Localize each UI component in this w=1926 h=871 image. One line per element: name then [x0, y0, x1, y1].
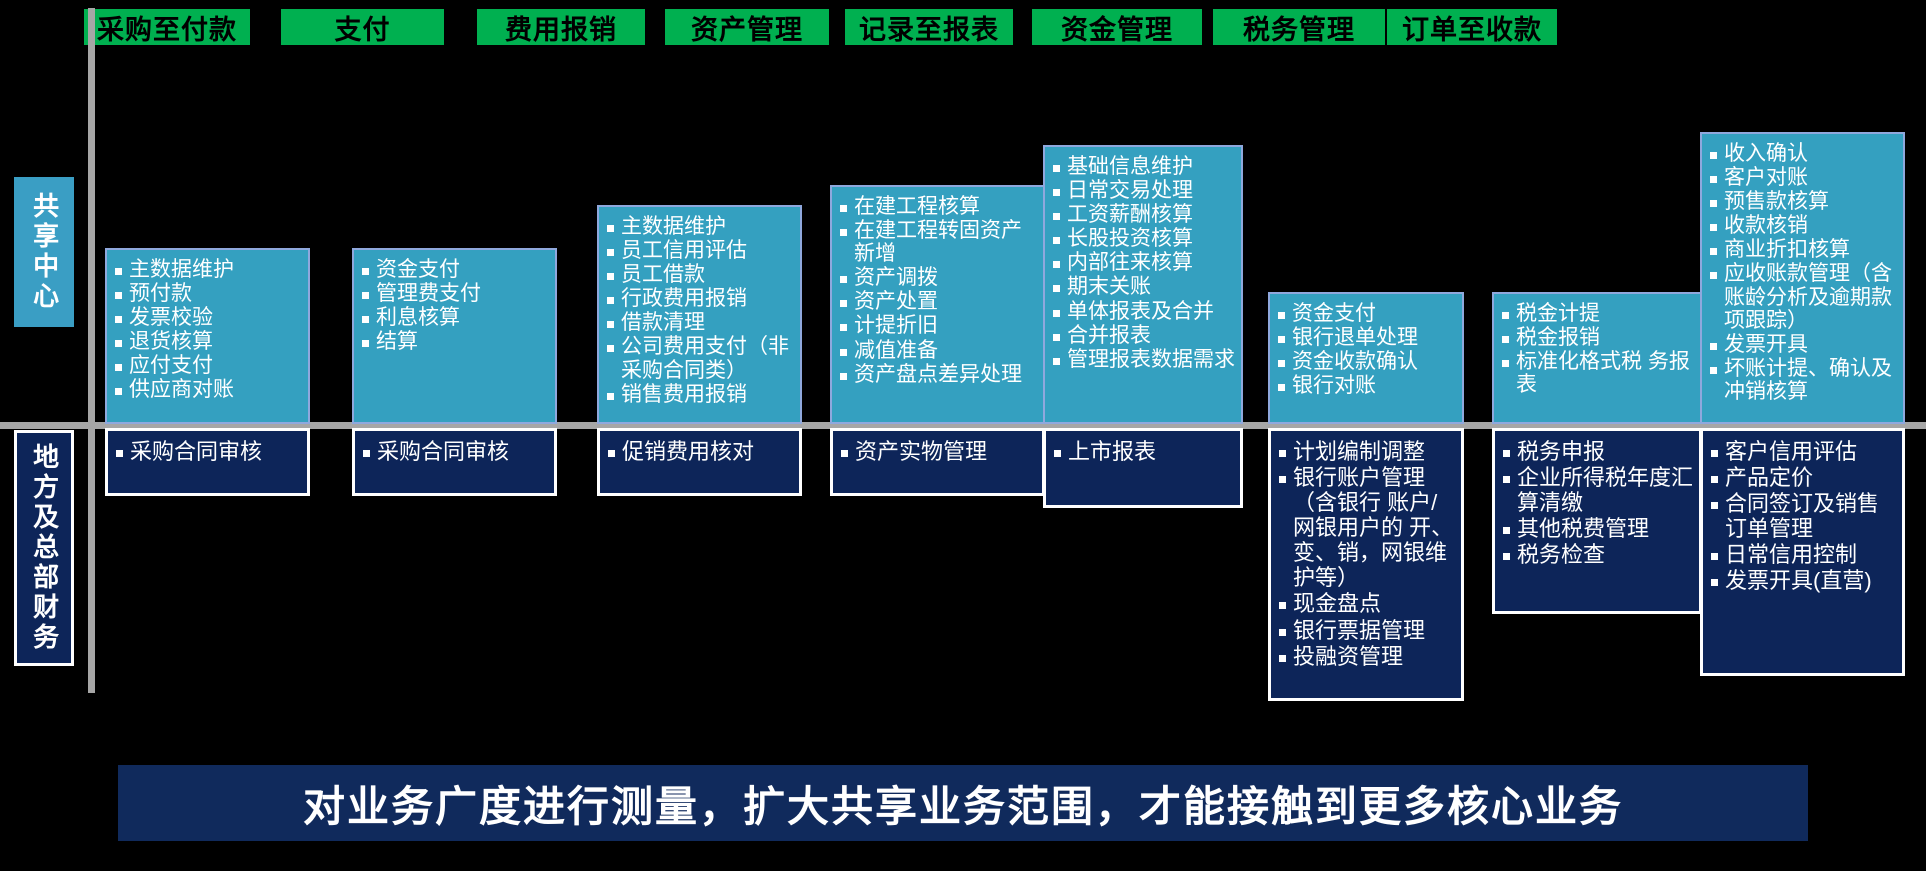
list-item: 在建工程核算 [838, 195, 1037, 218]
list-item: 预售款核算 [1708, 190, 1897, 213]
list-item: 税务检查 [1501, 542, 1693, 567]
list-item: 资金支付 [1276, 302, 1456, 325]
list-item: 管理报表数据需求 [1051, 348, 1235, 371]
header-tab-7[interactable]: 订单至收款 [1387, 9, 1557, 45]
list-item: 日常信用控制 [1709, 542, 1896, 567]
list-item: 发票开具(直营) [1709, 568, 1896, 593]
list-item: 坏账计提、确认及冲销核算 [1708, 357, 1897, 403]
item-list: 计划编制调整 银行账户管理（含银行 账户/网银用户的 开、变、销，网银维护等） … [1277, 439, 1455, 669]
list-item: 客户对账 [1708, 166, 1897, 189]
list-item: 促销费用核对 [606, 439, 793, 464]
list-item: 结算 [360, 330, 549, 353]
summary-banner: 对业务广度进行测量，扩大共享业务范围，才能接触到更多核心业务 [118, 765, 1808, 841]
list-item: 行政费用报销 [605, 287, 794, 310]
item-list: 客户信用评估 产品定价 合同签订及销售订单管理 日常信用控制 发票开具(直营) [1709, 439, 1896, 593]
item-list: 资产实物管理 [839, 439, 1036, 464]
list-item: 合同签订及销售订单管理 [1709, 491, 1896, 541]
list-item: 减值准备 [838, 339, 1037, 362]
header-tab-4[interactable]: 记录至报表 [845, 9, 1013, 45]
local-box-expense-reimbursement[interactable]: 促销费用核对 [597, 428, 802, 496]
list-item: 员工信用评估 [605, 239, 794, 262]
slide-canvas: 采购至付款 支付 费用报销 资产管理 记录至报表 资金管理 税务管理 订单至收款… [0, 0, 1926, 871]
list-item: 收款核销 [1708, 214, 1897, 237]
header-tab-label: 资金管理 [1061, 8, 1173, 47]
list-item: 商业折扣核算 [1708, 238, 1897, 261]
list-item: 资产处置 [838, 290, 1037, 313]
list-item: 在建工程转固资产新增 [838, 219, 1037, 265]
local-box-procure-to-pay[interactable]: 采购合同审核 [105, 428, 310, 496]
list-item: 税金计提 [1500, 302, 1694, 325]
list-item: 利息核算 [360, 306, 549, 329]
list-item: 发票校验 [113, 306, 302, 329]
list-item: 主数据维护 [113, 258, 302, 281]
list-item: 资产盘点差异处理 [838, 363, 1037, 386]
list-item: 管理费支付 [360, 282, 549, 305]
shared-box-treasury-management[interactable]: 资金支付 银行退单处理 资金收款确认 银行对账 [1268, 292, 1464, 424]
list-item: 资产调拨 [838, 266, 1037, 289]
list-item: 单体报表及合并 [1051, 300, 1235, 323]
list-item: 工资薪酬核算 [1051, 203, 1235, 226]
header-tab-1[interactable]: 支付 [281, 9, 444, 45]
list-item: 企业所得税年度汇算清缴 [1501, 465, 1693, 515]
header-tab-6[interactable]: 税务管理 [1213, 9, 1385, 45]
item-list: 资金支付 银行退单处理 资金收款确认 银行对账 [1276, 302, 1456, 397]
list-item: 销售费用报销 [605, 383, 794, 406]
list-item: 长股投资核算 [1051, 227, 1235, 250]
item-list: 采购合同审核 [361, 439, 548, 464]
shared-box-tax-management[interactable]: 税金计提 税金报销 标准化格式税 务报表 [1492, 292, 1702, 424]
item-list: 税金计提 税金报销 标准化格式税 务报表 [1500, 302, 1694, 396]
list-item: 计提折旧 [838, 314, 1037, 337]
list-item: 税务申报 [1501, 439, 1693, 464]
local-box-order-to-cash[interactable]: 客户信用评估 产品定价 合同签订及销售订单管理 日常信用控制 发票开具(直营) [1700, 428, 1905, 676]
item-list: 收入确认 客户对账 预售款核算 收款核销 商业折扣核算 应收账款管理（含账龄分析… [1708, 142, 1897, 403]
shared-box-procure-to-pay[interactable]: 主数据维护 预付款 发票校验 退货核算 应付支付 供应商对账 [105, 248, 310, 424]
list-item: 采购合同审核 [114, 439, 301, 464]
list-item: 现金盘点 [1277, 591, 1455, 616]
shared-box-asset-management[interactable]: 在建工程核算 在建工程转固资产新增 资产调拨 资产处置 计提折旧 减值准备 资产… [830, 185, 1045, 424]
list-item: 退货核算 [113, 330, 302, 353]
list-item: 基础信息维护 [1051, 155, 1235, 178]
local-box-record-to-report[interactable]: 上市报表 [1043, 428, 1243, 508]
list-item: 发票开具 [1708, 333, 1897, 356]
shared-box-payment[interactable]: 资金支付 管理费支付 利息核算 结算 [352, 248, 557, 424]
row-label-local-finance: 地方及总部财务 [14, 430, 74, 666]
list-item: 借款清理 [605, 311, 794, 334]
item-list: 税务申报 企业所得税年度汇算清缴 其他税费管理 税务检查 [1501, 439, 1693, 567]
local-box-asset-management[interactable]: 资产实物管理 [830, 428, 1045, 496]
item-list: 基础信息维护 日常交易处理 工资薪酬核算 长股投资核算 内部往来核算 期末关账 … [1051, 155, 1235, 371]
list-item: 应付支付 [113, 354, 302, 377]
list-item: 日常交易处理 [1051, 179, 1235, 202]
header-tab-label: 采购至付款 [97, 8, 237, 47]
item-list: 主数据维护 预付款 发票校验 退货核算 应付支付 供应商对账 [113, 258, 302, 402]
item-list: 主数据维护 员工信用评估 员工借款 行政费用报销 借款清理 公司费用支付（非采购… [605, 215, 794, 406]
header-tab-label: 记录至报表 [859, 8, 999, 47]
row-label-shared-center: 共享中心 [14, 177, 74, 327]
header-tab-label: 订单至收款 [1402, 8, 1542, 47]
local-box-payment[interactable]: 采购合同审核 [352, 428, 557, 496]
local-box-treasury-management[interactable]: 计划编制调整 银行账户管理（含银行 账户/网银用户的 开、变、销，网银维护等） … [1268, 428, 1464, 701]
shared-box-record-to-report[interactable]: 基础信息维护 日常交易处理 工资薪酬核算 长股投资核算 内部往来核算 期末关账 … [1043, 145, 1243, 424]
list-item: 预付款 [113, 282, 302, 305]
header-tab-label: 费用报销 [505, 8, 617, 47]
list-item: 资金支付 [360, 258, 549, 281]
list-item: 员工借款 [605, 263, 794, 286]
list-item: 合并报表 [1051, 324, 1235, 347]
list-item: 资金收款确认 [1276, 350, 1456, 373]
list-item: 采购合同审核 [361, 439, 548, 464]
list-item: 公司费用支付（非采购合同类） [605, 335, 794, 381]
list-item: 银行账户管理（含银行 账户/网银用户的 开、变、销，网银维护等） [1277, 465, 1455, 590]
header-tab-0[interactable]: 采购至付款 [84, 9, 250, 45]
list-item: 税金报销 [1500, 326, 1694, 349]
item-list: 采购合同审核 [114, 439, 301, 464]
shared-box-expense-reimbursement[interactable]: 主数据维护 员工信用评估 员工借款 行政费用报销 借款清理 公司费用支付（非采购… [597, 205, 802, 424]
list-item: 其他税费管理 [1501, 516, 1693, 541]
list-item: 应收账款管理（含账龄分析及逾期款项跟踪） [1708, 262, 1897, 331]
summary-banner-text: 对业务广度进行测量，扩大共享业务范围，才能接触到更多核心业务 [303, 773, 1623, 834]
list-item: 银行退单处理 [1276, 326, 1456, 349]
list-item: 客户信用评估 [1709, 439, 1896, 464]
list-item: 标准化格式税 务报表 [1500, 350, 1694, 396]
list-item: 产品定价 [1709, 465, 1896, 490]
list-item: 供应商对账 [113, 378, 302, 401]
local-box-tax-management[interactable]: 税务申报 企业所得税年度汇算清缴 其他税费管理 税务检查 [1492, 428, 1702, 614]
item-list: 促销费用核对 [606, 439, 793, 464]
axis-vertical-line [88, 8, 95, 693]
header-tab-3[interactable]: 资产管理 [665, 9, 829, 45]
list-item: 投融资管理 [1277, 644, 1455, 669]
list-item: 上市报表 [1052, 439, 1234, 464]
row-label-text: 共享中心 [30, 192, 57, 312]
header-tab-2[interactable]: 费用报销 [477, 9, 645, 45]
list-item: 计划编制调整 [1277, 439, 1455, 464]
header-tab-label: 资产管理 [691, 8, 803, 47]
list-item: 内部往来核算 [1051, 251, 1235, 274]
item-list: 资金支付 管理费支付 利息核算 结算 [360, 258, 549, 353]
shared-box-order-to-cash[interactable]: 收入确认 客户对账 预售款核算 收款核销 商业折扣核算 应收账款管理（含账龄分析… [1700, 132, 1905, 424]
item-list: 在建工程核算 在建工程转固资产新增 资产调拨 资产处置 计提折旧 减值准备 资产… [838, 195, 1037, 386]
list-item: 期末关账 [1051, 275, 1235, 298]
list-item: 银行对账 [1276, 374, 1456, 397]
row-label-text: 地方及总部财务 [30, 443, 57, 653]
header-tab-label: 支付 [335, 8, 391, 47]
list-item: 资产实物管理 [839, 439, 1036, 464]
list-item: 银行票据管理 [1277, 618, 1455, 643]
header-tab-5[interactable]: 资金管理 [1032, 9, 1202, 45]
item-list: 上市报表 [1052, 439, 1234, 464]
list-item: 收入确认 [1708, 142, 1897, 165]
list-item: 主数据维护 [605, 215, 794, 238]
header-tab-label: 税务管理 [1243, 8, 1355, 47]
